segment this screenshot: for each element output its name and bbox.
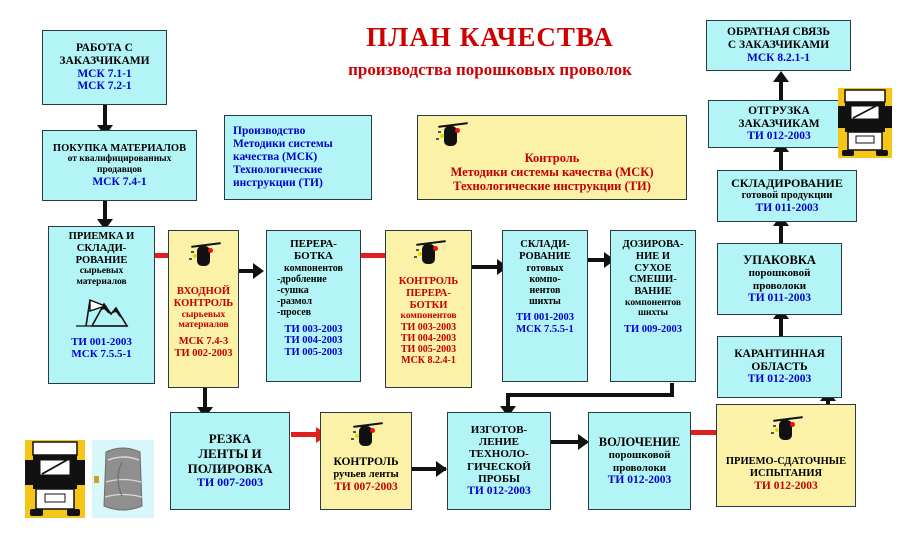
- box-subline: готовой продукции: [742, 190, 833, 202]
- box-code: МСК 7.4-1: [92, 176, 146, 189]
- box-line: ГИЧЕСКОЙ: [467, 461, 531, 473]
- box-line: СУХОЕ: [634, 263, 671, 275]
- box-component-storage[interactable]: СКЛАДИ- РОВАНИЕ готовых компо- нентов ши…: [502, 230, 588, 382]
- box-line: БОТКА: [294, 250, 333, 262]
- title-subtitle: производства порошковых проволок: [250, 60, 730, 80]
- box-subline: проволоки: [613, 462, 666, 474]
- box-subline: порошковой: [609, 449, 671, 461]
- title-main: ПЛАН КАЧЕСТВА: [250, 22, 730, 53]
- box-code: ТИ 002-2003: [174, 348, 232, 360]
- box-line: ПРОБЫ: [478, 473, 520, 485]
- box-line: УПАКОВКА: [743, 253, 816, 267]
- box-line: ПЕРЕРА-: [290, 238, 337, 250]
- box-code: ТИ 003-2003: [284, 324, 342, 336]
- box-subline: порошковой: [749, 267, 811, 279]
- legend-line: Контроль: [525, 151, 580, 165]
- box-line: компо-: [529, 274, 560, 285]
- box-code: МСК 8.2.4-1: [401, 355, 456, 366]
- box-line: ВАНИЕ: [634, 286, 671, 298]
- box-line: РЕЗКА: [209, 432, 251, 447]
- box-subline: ручьев ленты: [333, 469, 398, 481]
- box-code: ТИ 012-2003: [608, 474, 672, 487]
- legend-production: Производство Методики системы качества (…: [224, 115, 372, 200]
- box-quarantine[interactable]: КАРАНТИННАЯ ОБЛАСТЬ ТИ 012-2003: [717, 336, 842, 398]
- box-code: МСК 7.2-1: [77, 80, 131, 93]
- box-line: ДОЗИРОВА-: [622, 239, 683, 251]
- box-line: СКЛАДИ-: [520, 239, 570, 251]
- box-code: МСК 7.5.5-1: [71, 348, 131, 360]
- box-line: ОТГРУЗКА: [748, 105, 810, 118]
- box-code: ТИ 001-2003: [71, 336, 132, 348]
- box-code: ТИ 012-2003: [747, 130, 811, 143]
- box-subline: шихты: [638, 308, 668, 319]
- box-code: ТИ 012-2003: [748, 373, 812, 386]
- traffic-light-icon: [189, 242, 219, 268]
- box-code: МСК 7.5.5-1: [516, 324, 573, 336]
- box-dosing-mixing[interactable]: ДОЗИРОВА- НИЕ И СУХОЕ СМЕШИ- ВАНИЕ компо…: [610, 230, 696, 382]
- box-line: КОНТРОЛЬ: [399, 276, 458, 288]
- box-code: ТИ 004-2003: [284, 335, 342, 347]
- box-line: РАБОТА С: [76, 42, 133, 55]
- box-code: ТИ 012-2003: [754, 480, 818, 493]
- truck-icon: [838, 88, 892, 158]
- box-acceptance-tests[interactable]: ПРИЕМО-СДАТОЧНЫЕ ИСПЫТАНИЯ ТИ 012-2003: [716, 404, 856, 507]
- box-line: СКЛАДИРОВАНИЕ: [731, 177, 843, 190]
- box-bullet: -дробление: [277, 274, 327, 285]
- box-code: ТИ 009-2003: [624, 324, 682, 336]
- box-code: ТИ 007-2003: [334, 481, 398, 494]
- legend-line: инструкции (ТИ): [233, 177, 323, 190]
- mountain-flag-icon: [74, 294, 130, 328]
- traffic-light-icon: [436, 122, 466, 148]
- box-line: ЛЕНТЫ И: [198, 447, 261, 462]
- box-subline: продавцов: [97, 165, 142, 176]
- box-line: ЗАКАЗЧИКАМ: [738, 118, 819, 131]
- box-code: МСК 7.4-3: [179, 336, 229, 348]
- box-code: ТИ 005-2003: [284, 347, 342, 359]
- box-code: ТИ 011-2003: [756, 202, 819, 215]
- traffic-light-icon: [414, 240, 444, 266]
- box-subline: компонентов: [284, 263, 343, 274]
- legend-line: Технологические инструкции (ТИ): [453, 179, 651, 193]
- box-line: РОВАНИЕ: [519, 251, 571, 263]
- box-acceptance-storage[interactable]: ПРИЕМКА И СКЛАДИ- РОВАНИЕ сырьевых матер…: [48, 226, 155, 384]
- box-line: КОНТРОЛЬ: [174, 298, 233, 310]
- box-line: ИЗГОТОВ-: [471, 424, 527, 436]
- traffic-light-icon: [771, 416, 801, 442]
- box-subline: от квалифицированных: [68, 154, 172, 165]
- box-code: ТИ 011-2003: [748, 292, 811, 305]
- box-sample-making[interactable]: ИЗГОТОВ- ЛЕНИЕ ТЕХНОЛО- ГИЧЕСКОЙ ПРОБЫ Т…: [447, 412, 551, 510]
- box-bullet: -просев: [277, 307, 327, 318]
- box-line: КОНТРОЛЬ: [333, 456, 398, 469]
- legend-line: Методики системы качества (МСК): [450, 165, 653, 179]
- box-line: ИСПЫТАНИЯ: [750, 468, 822, 480]
- box-input-control[interactable]: ВХОДНОЙ КОНТРОЛЬ сырьевых материалов МСК…: [168, 230, 239, 388]
- box-code: МСК 8.2.1-1: [747, 52, 810, 65]
- box-line: ВХОДНОЙ: [177, 286, 230, 298]
- box-bullet: -сушка: [277, 285, 327, 296]
- box-line: ЛЕНИЕ: [479, 436, 519, 448]
- box-line: ЗАКАЗЧИКАМИ: [59, 55, 149, 68]
- box-material-purchase[interactable]: ПОКУПКА МАТЕРИАЛОВ от квалифицированных …: [42, 130, 197, 201]
- connector-horizontal-red: [291, 432, 319, 437]
- box-tape-cutting[interactable]: РЕЗКА ЛЕНТЫ И ПОЛИРОВКА ТИ 007-2003: [170, 412, 290, 510]
- box-code: ТИ 012-2003: [467, 485, 531, 498]
- connector-vertical: [103, 201, 107, 221]
- box-line: ПРИЕМО-СДАТОЧНЫЕ: [726, 456, 846, 468]
- box-code: МСК 7.1-1: [77, 68, 131, 81]
- legend-line: качества (МСК): [233, 151, 317, 164]
- box-line: ОБЛАСТЬ: [751, 361, 807, 374]
- box-line: БОТКИ: [410, 300, 448, 312]
- box-bullet: -размол: [277, 296, 327, 307]
- box-subline: материалов: [178, 320, 228, 331]
- box-processing[interactable]: ПЕРЕРА- БОТКА компонентов -дробление -су…: [266, 230, 361, 382]
- truck-icon: [25, 440, 85, 518]
- box-line: ПОКУПКА МАТЕРИАЛОВ: [53, 143, 186, 155]
- box-line: С ЗАКАЗЧИКАМИ: [728, 39, 829, 52]
- box-line: КАРАНТИННАЯ: [734, 348, 825, 361]
- box-line: шихты: [529, 296, 561, 307]
- box-subline: компонентов: [401, 311, 457, 322]
- traffic-light-icon: [351, 422, 381, 448]
- box-code: ТИ 001-2003: [516, 312, 574, 324]
- arrowhead-right: [253, 263, 264, 279]
- box-packing[interactable]: УПАКОВКА порошковой проволоки ТИ 011-200…: [717, 243, 842, 315]
- box-feedback[interactable]: ОБРАТНАЯ СВЯЗЬ С ЗАКАЗЧИКАМИ МСК 8.2.1-1: [706, 20, 851, 71]
- box-drawing[interactable]: ВОЛОЧЕНИЕ порошковой проволоки ТИ 012-20…: [588, 412, 691, 510]
- box-subline: сырьевых: [182, 310, 225, 321]
- box-line: ВОЛОЧЕНИЕ: [599, 435, 680, 449]
- box-shipment[interactable]: ОТГРУЗКА ЗАКАЗЧИКАМ ТИ 012-2003: [708, 100, 850, 148]
- legend-line: Технологические: [233, 164, 322, 177]
- box-line: СКЛАДИ-: [77, 243, 127, 255]
- box-subline: сырьевых: [80, 266, 123, 277]
- wire-coil-icon: [92, 440, 154, 518]
- box-code: ТИ 005-2003: [401, 344, 456, 355]
- legend-line: Методики системы: [233, 138, 333, 151]
- arrowhead-up: [773, 71, 789, 82]
- arrowhead-right: [436, 461, 447, 477]
- box-line: нентов: [530, 285, 561, 296]
- box-tape-control[interactable]: КОНТРОЛЬ ручьев ленты ТИ 007-2003: [320, 412, 412, 510]
- box-line: РОВАНИЕ: [76, 255, 128, 267]
- box-subline: проволоки: [753, 280, 806, 292]
- box-line: ОБРАТНАЯ СВЯЗЬ: [727, 26, 830, 39]
- connector-vertical: [103, 105, 107, 127]
- box-code: ТИ 004-2003: [401, 333, 456, 344]
- legend-control: Контроль Методики системы качества (МСК)…: [417, 115, 687, 200]
- box-product-storage[interactable]: СКЛАДИРОВАНИЕ готовой продукции ТИ 011-2…: [717, 170, 857, 222]
- box-line: ТЕХНОЛО-: [469, 448, 529, 460]
- quality-plan-diagram: ПЛАН КАЧЕСТВА производства порошковых пр…: [0, 0, 900, 535]
- connector-horizontal: [506, 393, 674, 397]
- box-line: ПОЛИРОВКА: [188, 462, 273, 477]
- box-line: НИЕ И: [636, 251, 670, 263]
- box-subline: компонентов: [625, 298, 681, 309]
- box-subline: материалов: [76, 277, 126, 288]
- box-code: ТИ 007-2003: [197, 476, 263, 489]
- box-processing-control[interactable]: КОНТРОЛЬ ПЕРЕРА- БОТКИ компонентов ТИ 00…: [385, 230, 472, 388]
- box-line: ПЕРЕРА-: [406, 288, 451, 300]
- box-line: ПРИЕМКА И: [69, 231, 135, 243]
- box-line: готовых: [527, 263, 564, 274]
- legend-line: Производство: [233, 125, 305, 138]
- box-code: ТИ 003-2003: [401, 322, 456, 333]
- page-title: ПЛАН КАЧЕСТВА производства порошковых пр…: [250, 22, 730, 80]
- box-customer-work[interactable]: РАБОТА С ЗАКАЗЧИКАМИ МСК 7.1-1 МСК 7.2-1: [42, 30, 167, 105]
- box-line: СМЕШИ-: [629, 274, 677, 286]
